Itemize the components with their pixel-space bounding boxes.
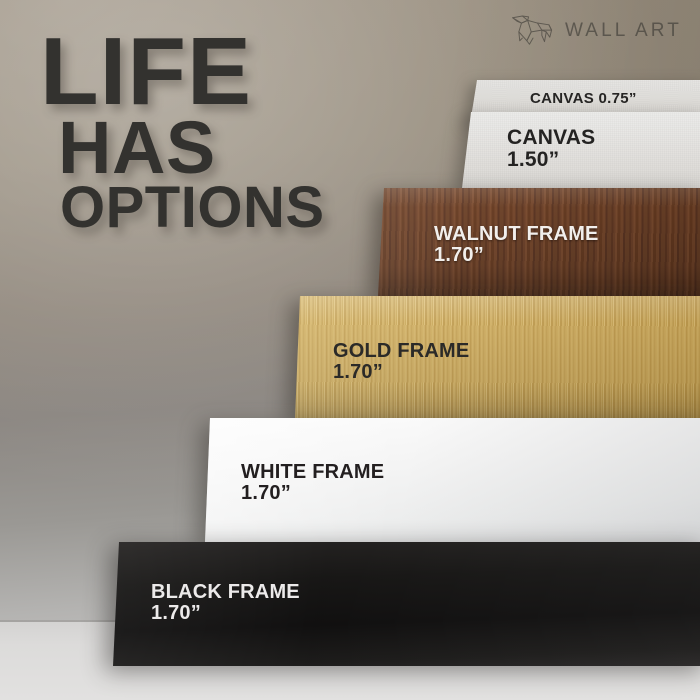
option-slab-black-frame[interactable]: BLACK FRAME 1.70” — [113, 542, 700, 666]
option-label-canvas-075: CANVAS 0.75” — [530, 91, 637, 107]
option-slab-walnut-frame[interactable]: WALNUT FRAME 1.70” — [378, 188, 700, 296]
option-label-line-1: WHITE FRAME — [241, 462, 384, 483]
option-label-line-2: 1.70” — [241, 483, 384, 504]
option-label-line-1: GOLD FRAME — [333, 341, 469, 362]
option-label-line-2: 1.50” — [507, 149, 595, 171]
option-label-line-2: 1.70” — [333, 362, 469, 383]
brand-name: WALL ART — [565, 20, 682, 42]
brand-lockup: WALL ART — [510, 14, 682, 48]
option-label-line-2: 1.70” — [151, 603, 300, 624]
option-slab-gold-frame[interactable]: GOLD FRAME 1.70” — [295, 296, 700, 419]
option-label-line-2: 1.70” — [434, 245, 599, 266]
option-slab-white-frame[interactable]: WHITE FRAME 1.70” — [205, 418, 700, 542]
option-label-walnut-frame: WALNUT FRAME 1.70” — [434, 224, 599, 266]
product-options-poster: WALL ART LIFE HAS OPTIONS CANVAS 0.75” C… — [0, 0, 700, 700]
option-label-white-frame: WHITE FRAME 1.70” — [241, 462, 384, 504]
origami-goat-icon — [510, 14, 556, 48]
headline-line-2: HAS — [58, 117, 398, 179]
option-label-line-1: BLACK FRAME — [151, 582, 300, 603]
option-slab-canvas-150[interactable]: CANVAS 1.50” — [462, 112, 700, 188]
option-label-line-1: CANVAS — [507, 127, 595, 149]
option-label-line-1: CANVAS 0.75” — [530, 91, 637, 107]
option-label-canvas-150: CANVAS 1.50” — [507, 127, 595, 171]
option-label-line-1: WALNUT FRAME — [434, 224, 599, 245]
headline-line-1: LIFE — [40, 32, 398, 113]
headline-line-3: OPTIONS — [60, 184, 398, 233]
option-label-gold-frame: GOLD FRAME 1.70” — [333, 341, 469, 383]
option-label-black-frame: BLACK FRAME 1.70” — [151, 582, 300, 624]
page-title: LIFE HAS OPTIONS — [38, 32, 398, 233]
